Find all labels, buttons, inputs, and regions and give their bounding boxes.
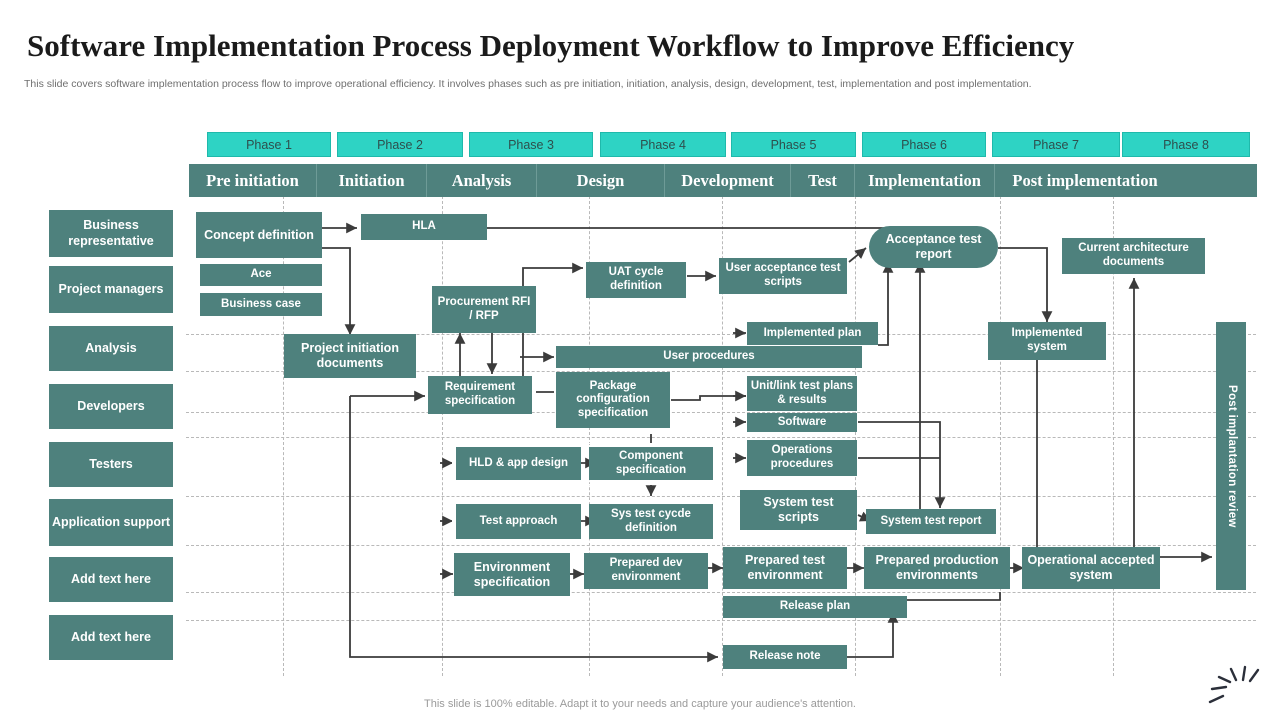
node-post-implantation-review[interactable]: Post implantation review (1216, 322, 1246, 590)
role-box-1[interactable]: Business representative (49, 210, 173, 257)
phase-chip-8[interactable]: Phase 8 (1122, 132, 1250, 157)
node-user-procedures[interactable]: User procedures (556, 346, 862, 368)
decorative-burst-icon (1206, 656, 1266, 708)
phase-name-4[interactable]: Design (537, 164, 665, 197)
phase-chip-7[interactable]: Phase 7 (992, 132, 1120, 157)
page-title: Software Implementation Process Deployme… (27, 28, 1207, 64)
node-component-specification[interactable]: Component specification (589, 447, 713, 480)
node-release-note[interactable]: Release note (723, 645, 847, 669)
grid-row-divider-4 (186, 496, 1256, 497)
role-box-2[interactable]: Project managers (49, 266, 173, 313)
node-software[interactable]: Software (747, 413, 857, 432)
grid-row-divider-5 (186, 545, 1256, 546)
node-acceptance-test-report[interactable]: Acceptance test report (869, 226, 998, 268)
node-project-initiation-documents[interactable]: Project initiation documents (284, 334, 416, 378)
grid-row-divider-3 (186, 437, 1256, 438)
phase-name-2[interactable]: Initiation (317, 164, 427, 197)
node-requirement-specification[interactable]: Requirement specification (428, 376, 532, 414)
node-system-test-report[interactable]: System test report (866, 509, 996, 534)
phase-name-3[interactable]: Analysis (427, 164, 537, 197)
phase-name-1[interactable]: Pre initiation (189, 164, 317, 197)
phase-chip-3[interactable]: Phase 3 (469, 132, 593, 157)
grid-row-divider-6 (186, 592, 1256, 593)
node-unit-link-test-plans-results[interactable]: Unit/link test plans & results (747, 376, 857, 411)
node-operations-procedures[interactable]: Operations procedures (747, 440, 857, 476)
page-subtitle: This slide covers software implementatio… (24, 78, 1174, 90)
grid-row-divider-7 (186, 620, 1256, 621)
role-box-4[interactable]: Developers (49, 384, 173, 429)
node-concept-definition[interactable]: Concept definition (196, 212, 322, 258)
role-box-6[interactable]: Application support (49, 499, 173, 546)
node-environment-specification[interactable]: Environment specification (454, 553, 570, 596)
phase-name-6[interactable]: Test (791, 164, 855, 197)
node-procurement-rfi-rfp[interactable]: Procurement RFI / RFP (432, 286, 536, 333)
role-box-3[interactable]: Analysis (49, 326, 173, 371)
node-business-case[interactable]: Business case (200, 293, 322, 316)
node-test-approach[interactable]: Test approach (456, 504, 581, 539)
grid-row-divider-2 (186, 412, 1256, 413)
node-package-configuration-specification[interactable]: Package configuration specification (556, 372, 670, 428)
node-sys-test-cycle-definition[interactable]: Sys test cycde definition (589, 504, 713, 539)
phase-name-5[interactable]: Development (665, 164, 791, 197)
node-current-architecture-documents[interactable]: Current architecture documents (1062, 238, 1205, 274)
node-operational-accepted-system[interactable]: Operational accepted system (1022, 547, 1160, 589)
node-prepared-test-environment[interactable]: Prepared test environment (723, 547, 847, 589)
grid-col-divider-1 (442, 196, 443, 676)
role-box-7[interactable]: Add text here (49, 557, 173, 602)
phase-name-7[interactable]: Implementation (855, 164, 995, 197)
node-uat-cycle-definition[interactable]: UAT cycle definition (586, 262, 686, 298)
phase-chip-2[interactable]: Phase 2 (337, 132, 463, 157)
node-implemented-plan[interactable]: Implemented plan (747, 322, 878, 345)
node-system-test-scripts[interactable]: System test scripts (740, 490, 857, 530)
node-implemented-system[interactable]: Implemented system (988, 322, 1106, 360)
role-box-5[interactable]: Testers (49, 442, 173, 487)
role-box-8[interactable]: Add text here (49, 615, 173, 660)
phase-chip-1[interactable]: Phase 1 (207, 132, 331, 157)
phase-chip-4[interactable]: Phase 4 (600, 132, 726, 157)
node-prepared-production-environments[interactable]: Prepared production environments (864, 547, 1010, 589)
node-release-plan[interactable]: Release plan (723, 596, 907, 618)
grid-col-divider-5 (1000, 196, 1001, 676)
node-hld-app-design[interactable]: HLD & app design (456, 447, 581, 480)
phase-chip-6[interactable]: Phase 6 (862, 132, 986, 157)
node-prepared-dev-environment[interactable]: Prepared dev environment (584, 553, 708, 589)
phase-name-8[interactable]: Post implementation (995, 164, 1175, 197)
footer-note: This slide is 100% editable. Adapt it to… (0, 698, 1280, 710)
node-user-acceptance-test-scripts[interactable]: User acceptance test scripts (719, 258, 847, 294)
slide-canvas: Software Implementation Process Deployme… (0, 0, 1280, 720)
phase-name-bar: Pre initiationInitiationAnalysisDesignDe… (189, 164, 1257, 197)
node-ace[interactable]: Ace (200, 264, 322, 286)
phase-chip-5[interactable]: Phase 5 (731, 132, 856, 157)
node-hla[interactable]: HLA (361, 214, 487, 240)
